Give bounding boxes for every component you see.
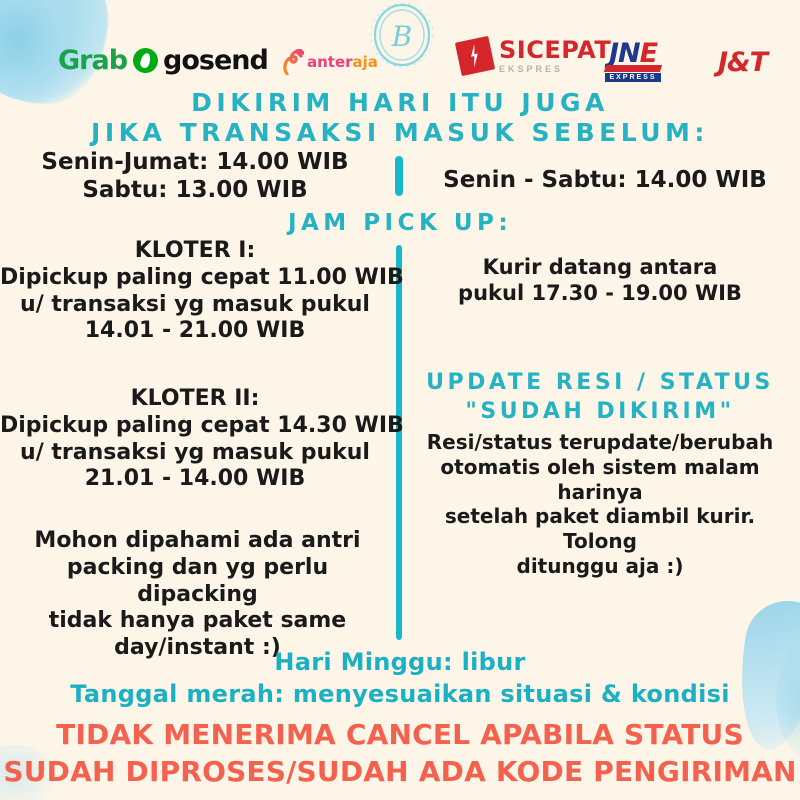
update-resi-heading-line-1: UPDATE RESI / STATUS — [400, 368, 800, 397]
jne-logo: JNE EXPRESS — [605, 40, 661, 80]
footer-tanggal-merah: Tanggal merah: menyesuaikan situasi & ko… — [0, 680, 800, 708]
update-resi-body-line-4: ditunggu aja :) — [405, 554, 795, 579]
update-resi-body: Resi/status terupdate/berubah otomatis o… — [405, 430, 795, 579]
schedule-left-column: Senin-Jumat: 14.00 WIB Sabtu: 13.00 WIB — [10, 148, 380, 204]
headline-dikirim-hari-itu-juga: DIKIRIM HARI ITU JUGA — [0, 88, 800, 117]
update-resi-body-line-3: setelah paket diambil kurir. Tolong — [405, 504, 795, 554]
jne-bar-icon — [604, 65, 662, 72]
jne-logo-sublabel: EXPRESS — [605, 73, 660, 82]
gosend-logo: gosend — [133, 40, 268, 80]
update-resi-body-line-2: otomatis oleh sistem malam harinya — [405, 455, 795, 505]
mohon-dipahami-note: Mohon dipahami ada antri packing dan yg … — [10, 528, 385, 662]
anteraja-mark-icon — [282, 49, 304, 75]
sicepat-mark-icon — [455, 36, 495, 76]
mohon-line-2: packing dan yg perlu dipacking — [10, 555, 385, 609]
headline-jika-transaksi-masuk-sebelum: JIKA TRANSAKSI MASUK SEBELUM: — [0, 118, 800, 147]
schedule-right-line-1: Senin - Sabtu: 14.00 WIB — [420, 166, 790, 194]
divider-main-vertical — [396, 245, 402, 640]
kloter-2-line-3: 21.01 - 14.00 WIB — [0, 466, 390, 493]
kurir-line-2: pukul 17.30 - 19.00 WIB — [410, 281, 790, 307]
schedule-left-line-2: Sabtu: 13.00 WIB — [10, 176, 380, 204]
update-resi-body-line-1: Resi/status terupdate/berubah — [405, 430, 795, 455]
kurir-line-1: Kurir datang antara — [410, 255, 790, 281]
footer-hari-minggu: Hari Minggu: libur — [0, 648, 800, 676]
sicepat-logo-sublabel: EKSPRES — [499, 65, 611, 74]
kloter-1-line-3: 14.01 - 21.00 WIB — [0, 318, 390, 345]
jnt-logo-label: J&T — [718, 47, 767, 78]
kloter-2-title: KLOTER II: — [0, 386, 390, 413]
update-resi-heading-line-2: "SUDAH DIKIRIM" — [400, 397, 800, 426]
kloter-2-block: KLOTER II: Dipickup paling cepat 14.30 W… — [0, 386, 390, 493]
section-heading-jam-pick-up: JAM PICK UP: — [0, 210, 800, 236]
kloter-1-block: KLOTER I: Dipickup paling cepat 11.00 WI… — [0, 238, 390, 345]
anteraja-logo: anteraja — [282, 42, 378, 82]
warning-line-1: TIDAK MENERIMA CANCEL APABILA STATUS — [0, 718, 800, 751]
warning-line-2: SUDAH DIPROSES/SUDAH ADA KODE PENGIRIMAN — [0, 755, 800, 788]
kloter-2-line-2: u/ transaksi yg masuk pukul — [0, 440, 390, 467]
mohon-line-1: Mohon dipahami ada antri — [10, 528, 385, 555]
gosend-logo-label: gosend — [163, 45, 268, 76]
grab-logo: Grab — [58, 40, 127, 80]
schedule-left-line-1: Senin-Jumat: 14.00 WIB — [10, 148, 380, 176]
anteraja-label-part-b: aja — [353, 53, 378, 71]
update-resi-heading: UPDATE RESI / STATUS "SUDAH DIKIRIM" — [400, 368, 800, 426]
sicepat-logo-label: SICEPAT — [499, 38, 611, 62]
kurir-datang-block: Kurir datang antara pukul 17.30 - 19.00 … — [410, 255, 790, 306]
jnt-logo: J&T — [718, 42, 767, 82]
kloter-1-title: KLOTER I: — [0, 238, 390, 265]
kloter-1-line-2: u/ transaksi yg masuk pukul — [0, 292, 390, 319]
anteraja-logo-label: anteraja — [307, 53, 378, 71]
grab-logo-label: Grab — [58, 45, 127, 76]
divider-top — [395, 156, 403, 196]
sicepat-logo: SICEPAT EKSPRES — [458, 36, 611, 76]
mohon-line-3: tidak hanya paket same — [10, 608, 385, 635]
infographic-canvas: B Grab gosend anteraja — [0, 0, 800, 800]
anteraja-label-part-a: anter — [307, 53, 353, 71]
kloter-1-line-1: Dipickup paling cepat 11.00 WIB — [0, 265, 390, 292]
schedule-right-column: Senin - Sabtu: 14.00 WIB — [420, 166, 790, 194]
gosend-mark-icon — [133, 48, 158, 73]
courier-logo-row: Grab gosend anteraja SICEPAT EKSPRES — [0, 38, 800, 86]
kloter-2-line-1: Dipickup paling cepat 14.30 WIB — [0, 413, 390, 440]
